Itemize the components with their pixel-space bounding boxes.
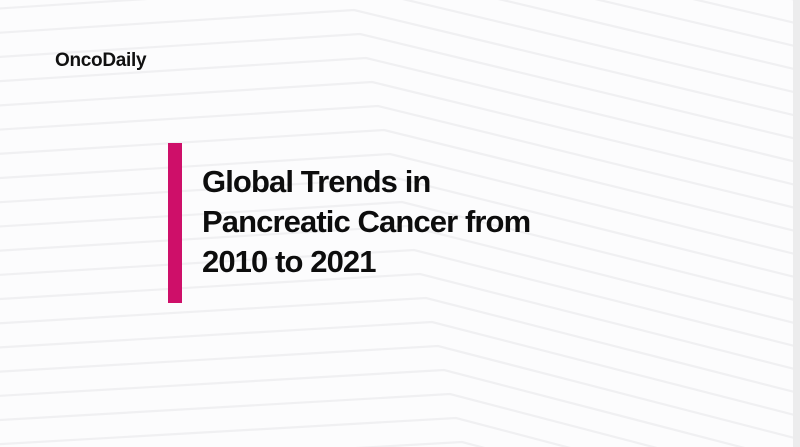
page-title-line-1: Global Trends in (202, 162, 622, 202)
page-title-line-3: 2010 to 2021 (202, 242, 622, 282)
title-slide: OncoDaily Global Trends in Pancreatic Ca… (0, 0, 800, 447)
page-title-line-2: Pancreatic Cancer from (202, 202, 622, 242)
brand-logo: OncoDaily (55, 51, 146, 70)
right-edge-strip (793, 0, 800, 447)
accent-bar (168, 143, 182, 303)
page-title: Global Trends in Pancreatic Cancer from … (202, 162, 622, 282)
